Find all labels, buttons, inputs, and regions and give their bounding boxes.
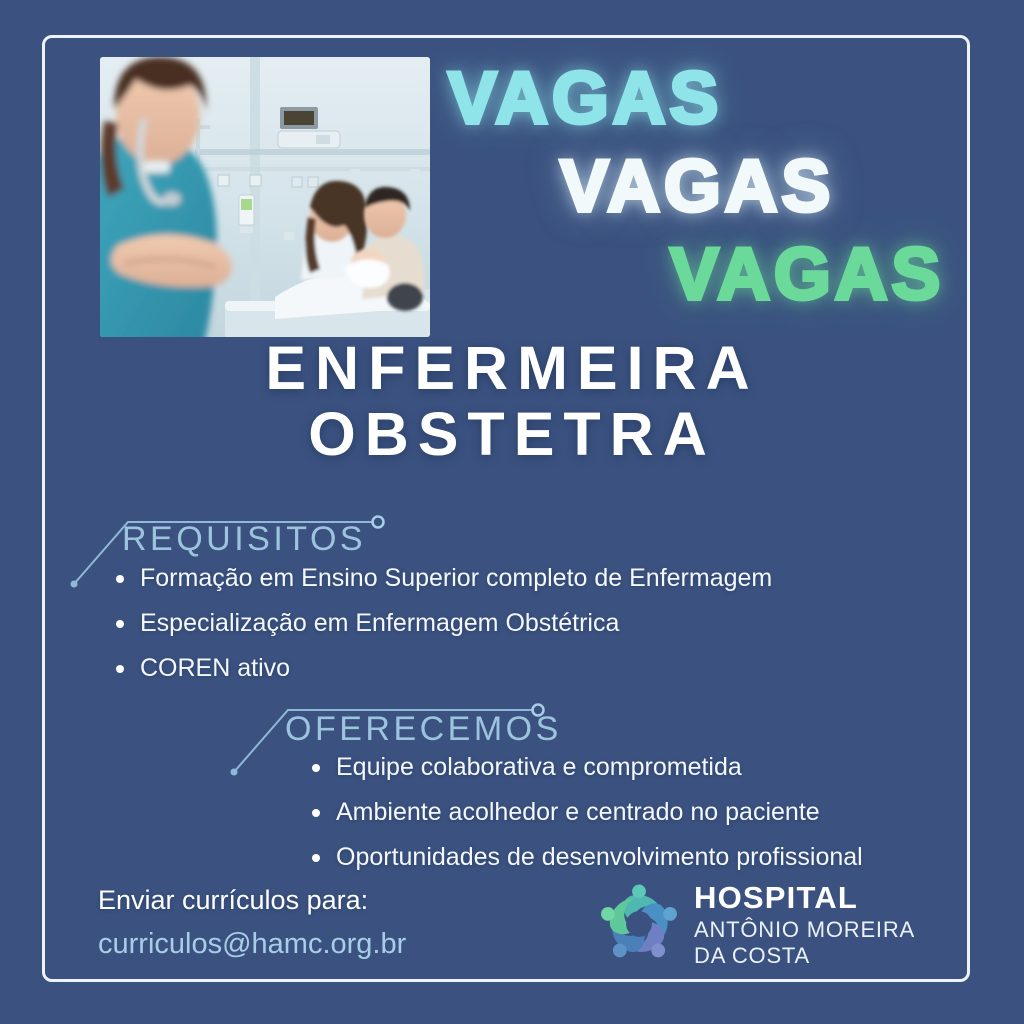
list-item: COREN ativo (112, 656, 772, 681)
vagas-headline-2-text: VAGAS (560, 150, 834, 223)
vagas-headline-1-text: VAGAS (448, 62, 722, 135)
job-title-line-2: OBSTETRA (0, 402, 1024, 468)
list-item: Formação em Ensino Superior completo de … (112, 566, 772, 591)
hospital-logo: HOSPITAL ANTÔNIO MOREIRA DA COSTA (596, 880, 915, 969)
hospital-logo-word: HOSPITAL (694, 882, 915, 914)
job-title-line-1: ENFERMEIRA (265, 334, 758, 402)
contact-email[interactable]: curriculos@hamc.org.br (98, 926, 406, 964)
poster-canvas: VAGAS VAGAS VAGAS ENFERMEIRA OBSTETRA RE… (0, 0, 1024, 1024)
vagas-headline-3: VAGAS (670, 238, 944, 311)
contact-block: Enviar currículos para: curriculos@hamc.… (98, 884, 406, 963)
requisitos-heading: REQUISITOS (122, 522, 366, 556)
hospital-logo-mark-icon (596, 881, 682, 967)
list-item: Equipe colaborativa e comprometida (308, 755, 863, 780)
maternity-photo (100, 57, 430, 337)
vagas-headline-group: VAGAS VAGAS VAGAS (440, 52, 960, 322)
list-item: Ambiente acolhedor e centrado no pacient… (308, 800, 863, 825)
job-title: ENFERMEIRA OBSTETRA (0, 336, 1024, 468)
requisitos-list: Formação em Ensino Superior completo de … (112, 566, 772, 701)
hospital-logo-subtitle-2: DA COSTA (694, 943, 915, 969)
vagas-headline-1: VAGAS (448, 62, 722, 135)
oferecemos-heading: OFERECEMOS (285, 712, 562, 746)
vagas-headline-3-text: VAGAS (670, 238, 944, 311)
vagas-headline-2: VAGAS (560, 150, 834, 223)
hospital-logo-subtitle-1: ANTÔNIO MOREIRA (694, 917, 915, 943)
hospital-logo-text: HOSPITAL ANTÔNIO MOREIRA DA COSTA (694, 880, 915, 969)
list-item: Oportunidades de desenvolvimento profiss… (308, 845, 863, 870)
list-item: Especialização em Enfermagem Obstétrica (112, 611, 772, 636)
oferecemos-list: Equipe colaborativa e comprometida Ambie… (308, 755, 863, 890)
contact-label: Enviar currículos para: (98, 884, 406, 918)
